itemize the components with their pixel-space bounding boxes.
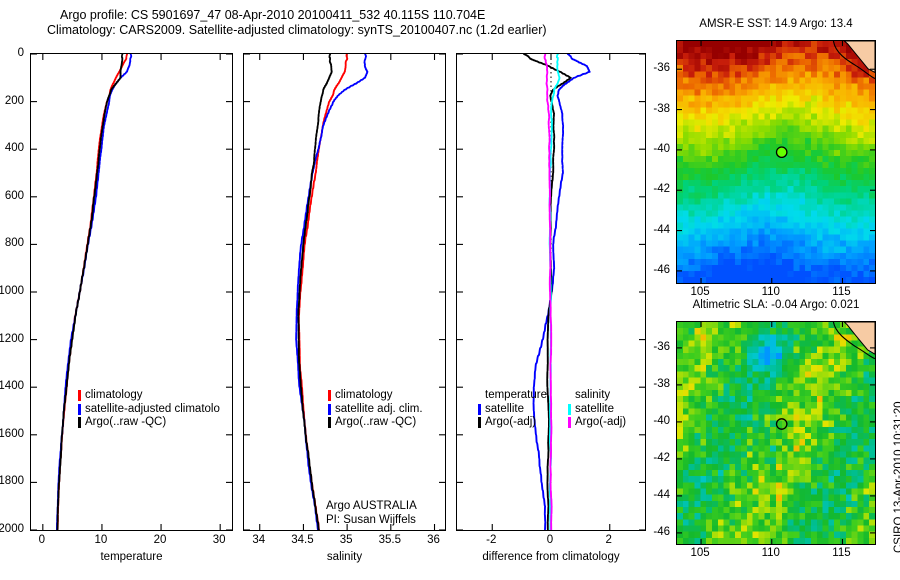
map-sst-raster bbox=[677, 41, 875, 283]
axis-tick-label: 34.5 bbox=[291, 534, 313, 546]
axis-tick-label: 1000 bbox=[0, 285, 24, 297]
legend-item: Argo(-adj) bbox=[568, 416, 626, 430]
legend-color-swatch bbox=[568, 417, 571, 428]
temperature-legend: climatologysatellite-adjusted climatoloA… bbox=[78, 389, 220, 430]
axis-tick-label: 30 bbox=[213, 534, 226, 546]
axis-tick-label: -46 bbox=[653, 264, 670, 276]
axis-tick-label: 200 bbox=[5, 95, 24, 107]
legend-item: climatology bbox=[328, 389, 423, 403]
credit-line2: PI: Susan Wijffels bbox=[326, 513, 417, 527]
axis-tick-label: -44 bbox=[653, 489, 670, 501]
axis-tick-label: 1400 bbox=[0, 380, 24, 392]
axis-tick-label: -46 bbox=[653, 526, 670, 538]
axis-tick-label: 34 bbox=[252, 534, 265, 546]
panel-temperature bbox=[30, 53, 233, 531]
axis-tick-label: 10 bbox=[95, 534, 108, 546]
legend-item: Argo(..raw -QC) bbox=[328, 416, 423, 430]
axis-tick-label: 0 bbox=[18, 47, 24, 59]
panel-difference bbox=[456, 53, 646, 531]
map-sst-y-ticklabels: -36-38-40-42-44-46 bbox=[642, 40, 674, 284]
legend-item: Argo(..raw -QC) bbox=[78, 416, 220, 430]
legend-heading: temperature bbox=[478, 389, 547, 403]
axis-tick-label: 115 bbox=[832, 547, 850, 559]
map-sst bbox=[676, 40, 876, 284]
axis-tick-label: 110 bbox=[762, 547, 780, 559]
axis-tick-label: 105 bbox=[690, 547, 709, 559]
page-title-line2: Climatology: CARS2009. Satellite-adjuste… bbox=[47, 23, 547, 38]
salinity-x-ticklabels: 3434.53535.536 bbox=[243, 534, 446, 550]
legend-color-swatch bbox=[78, 404, 81, 415]
legend-color-swatch bbox=[568, 404, 571, 415]
axis-tick-label: -36 bbox=[653, 341, 670, 353]
temperature-y-ticklabels: 0200400600800100012001400160018002000 bbox=[0, 53, 28, 531]
difference-legend-salinity: salinitysatelliteArgo(-adj) bbox=[568, 389, 626, 430]
axis-tick-label: 105 bbox=[690, 286, 709, 298]
axis-tick-label: 35 bbox=[340, 534, 353, 546]
legend-item-label: climatology bbox=[85, 389, 143, 403]
axis-tick-label: 2000 bbox=[0, 523, 24, 535]
axis-tick-label: 110 bbox=[762, 286, 780, 298]
difference-legend-temperature: temperaturesatelliteArgo(-adj) bbox=[478, 389, 547, 430]
axis-tick-label: 800 bbox=[5, 237, 24, 249]
legend-item: satellite-adjusted climatolo bbox=[78, 403, 220, 417]
difference-axis-label: difference from climatology bbox=[446, 551, 656, 563]
credit-line1: Argo AUSTRALIA bbox=[326, 499, 417, 513]
legend-item: satellite bbox=[478, 403, 547, 417]
map-sst-title: AMSR-E SST: 14.9 Argo: 13.4 bbox=[660, 18, 892, 30]
axis-tick-label: -38 bbox=[653, 103, 670, 115]
credit-timestamp-vertical: CSIRO 13-Apr-2010 10:31:20 bbox=[893, 401, 900, 553]
map-sla-title: Altimetric SLA: -0.04 Argo: 0.021 bbox=[660, 299, 892, 311]
axis-tick-label: 0 bbox=[547, 534, 553, 546]
legend-item: satellite bbox=[568, 403, 626, 417]
axis-tick-label: -38 bbox=[653, 378, 670, 390]
legend-item-label: Argo(..raw -QC) bbox=[85, 416, 166, 430]
legend-item-label: Argo(-adj) bbox=[575, 416, 626, 430]
legend-item-label: Argo(..raw -QC) bbox=[335, 416, 416, 430]
map-sla-raster bbox=[677, 322, 875, 544]
axis-tick-label: 20 bbox=[154, 534, 167, 546]
panel-salinity bbox=[243, 53, 446, 531]
legend-item: climatology bbox=[78, 389, 220, 403]
legend-item-label: satellite bbox=[485, 403, 524, 417]
legend-color-swatch bbox=[478, 404, 481, 415]
salinity-profile-plot bbox=[244, 54, 445, 530]
axis-tick-label: -42 bbox=[653, 452, 670, 464]
legend-color-swatch bbox=[78, 390, 81, 401]
legend-item: Argo(-adj) bbox=[478, 416, 547, 430]
axis-tick-label: 400 bbox=[5, 142, 24, 154]
axis-tick-label: 36 bbox=[427, 534, 440, 546]
axis-tick-label: -42 bbox=[653, 183, 670, 195]
difference-profile-plot bbox=[457, 54, 645, 530]
axis-tick-label: 1600 bbox=[0, 428, 24, 440]
axis-tick-label: 35.5 bbox=[379, 534, 401, 546]
axis-tick-label: -36 bbox=[653, 62, 670, 74]
legend-item: satellite adj. clim. bbox=[328, 403, 423, 417]
legend-color-swatch bbox=[328, 404, 331, 415]
legend-color-swatch bbox=[328, 417, 331, 428]
temperature-axis-label: temperature bbox=[30, 551, 233, 563]
legend-item-label: satellite bbox=[575, 403, 614, 417]
legend-color-swatch bbox=[78, 417, 81, 428]
map-sla-x-ticklabels: 105110115 bbox=[676, 547, 876, 563]
map-sla bbox=[676, 321, 876, 545]
axis-tick-label: -44 bbox=[653, 224, 670, 236]
axis-tick-label: 2 bbox=[606, 534, 612, 546]
axis-tick-label: -40 bbox=[653, 415, 670, 427]
credit-block: Argo AUSTRALIA PI: Susan Wijffels bbox=[326, 499, 417, 527]
legend-item-label: satellite adj. clim. bbox=[335, 403, 423, 417]
legend-heading: salinity bbox=[568, 389, 626, 403]
legend-item-label: climatology bbox=[335, 389, 393, 403]
temperature-profile-plot bbox=[31, 54, 232, 530]
legend-item-label: satellite-adjusted climatolo bbox=[85, 403, 220, 417]
axis-tick-label: 0 bbox=[39, 534, 45, 546]
axis-tick-label: 1800 bbox=[0, 475, 24, 487]
page-title-line1: Argo profile: CS 5901697_47 08-Apr-2010 … bbox=[60, 8, 485, 23]
axis-tick-label: -2 bbox=[486, 534, 496, 546]
temperature-x-ticklabels: 0102030 bbox=[30, 534, 233, 550]
axis-tick-label: 1200 bbox=[0, 333, 24, 345]
salinity-legend: climatologysatellite adj. clim.Argo(..ra… bbox=[328, 389, 423, 430]
axis-tick-label: 600 bbox=[5, 190, 24, 202]
axis-tick-label: -40 bbox=[653, 143, 670, 155]
salinity-axis-label: salinity bbox=[243, 551, 446, 563]
difference-x-ticklabels: -202 bbox=[456, 534, 646, 550]
axis-tick-label: 115 bbox=[832, 286, 850, 298]
legend-color-swatch bbox=[328, 390, 331, 401]
map-sla-y-ticklabels: -36-38-40-42-44-46 bbox=[642, 321, 674, 545]
legend-color-swatch bbox=[478, 417, 481, 428]
legend-item-label: Argo(-adj) bbox=[485, 416, 536, 430]
